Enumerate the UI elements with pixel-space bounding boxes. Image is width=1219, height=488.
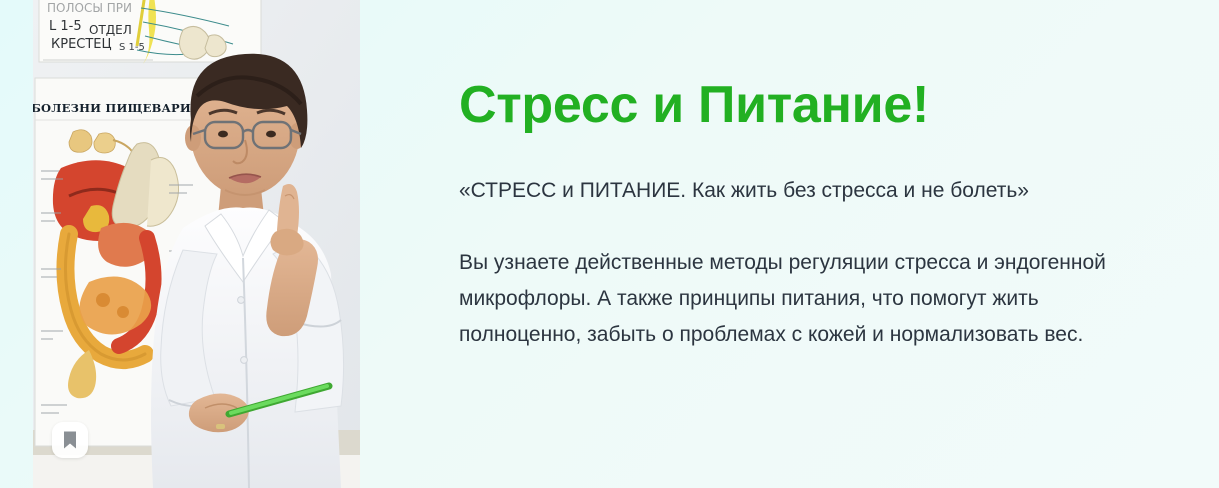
bookmark-icon	[62, 430, 78, 450]
promo-banner: ПОЛОСЫ ПРИ L 1-5 ОТДЕЛ КРЕСТЕЦ S 1-5	[0, 0, 1219, 488]
page-title: Стресс и Питание!	[459, 78, 929, 133]
photo-illustration: ПОЛОСЫ ПРИ L 1-5 ОТДЕЛ КРЕСТЕЦ S 1-5	[33, 0, 360, 488]
course-description: Вы узнаете действенные методы регуляции …	[459, 245, 1159, 353]
svg-text:ОТДЕЛ: ОТДЕЛ	[89, 23, 132, 37]
lecturer-photo: ПОЛОСЫ ПРИ L 1-5 ОТДЕЛ КРЕСТЕЦ S 1-5	[33, 0, 360, 488]
svg-text:ПОЛОСЫ ПРИ: ПОЛОСЫ ПРИ	[47, 1, 132, 15]
text-column: Стресс и Питание! «СТРЕСС и ПИТАНИЕ. Как…	[396, 0, 1219, 488]
media-column: ПОЛОСЫ ПРИ L 1-5 ОТДЕЛ КРЕСТЕЦ S 1-5	[0, 0, 396, 488]
course-subtitle: «СТРЕСС и ПИТАНИЕ. Как жить без стресса …	[459, 176, 1029, 206]
svg-text:L 1-5: L 1-5	[49, 19, 82, 34]
bookmark-button[interactable]	[52, 422, 88, 458]
svg-text:КРЕСТЕЦ: КРЕСТЕЦ	[51, 37, 112, 52]
